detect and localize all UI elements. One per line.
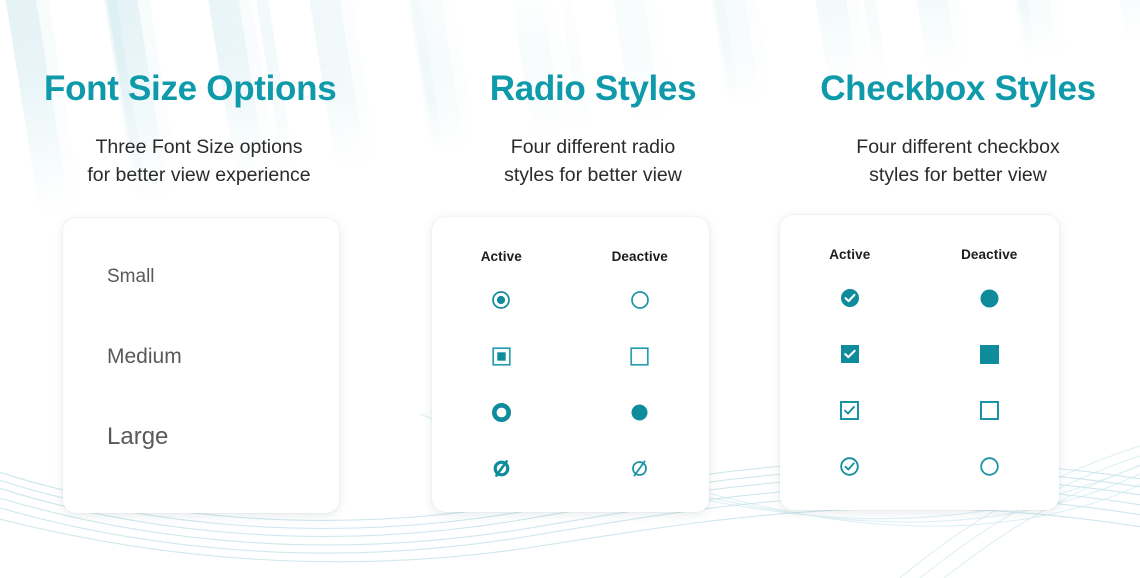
page-title-radio-styles: Radio Styles	[418, 0, 768, 110]
column-font-size: Font Size Options Three Font Size option…	[0, 0, 400, 513]
checkbox-cell-active-2[interactable]	[780, 326, 920, 382]
checkbox-cell-active-3[interactable]	[780, 382, 920, 438]
radio-cell-deactive-4[interactable]	[571, 440, 710, 496]
radio-cell-deactive-2[interactable]	[571, 328, 710, 384]
font-size-option-small[interactable]: Small	[107, 248, 339, 288]
radio-circle-dot-icon	[491, 290, 511, 310]
checkbox-cell-deactive-3[interactable]	[920, 382, 1060, 438]
radio-square-outline-icon	[630, 347, 649, 366]
feature-columns: Font Size Options Three Font Size option…	[0, 0, 1140, 513]
checkbox-circle-check-filled-icon	[841, 289, 859, 307]
card-checkbox-styles: Active Deactive	[780, 215, 1059, 510]
checkbox-cell-active-4[interactable]	[780, 438, 920, 494]
radio-cell-active-2[interactable]	[432, 328, 571, 384]
radio-circle-filled-icon	[630, 403, 649, 422]
column-checkbox-styles: Checkbox Styles Four different checkbox …	[768, 0, 1140, 513]
card-radio-styles: Active Deactive	[432, 217, 709, 512]
font-size-option-medium[interactable]: Medium	[107, 288, 339, 369]
checkbox-circle-outline-icon	[980, 457, 999, 476]
checkbox-circle-filled-icon	[980, 289, 999, 308]
checkbox-cell-deactive-2[interactable]	[920, 326, 1060, 382]
radio-cell-active-3[interactable]	[432, 384, 571, 440]
radio-donut-filled-icon	[492, 403, 511, 422]
font-size-option-large[interactable]: Large	[107, 369, 339, 451]
radio-slashed-circle-icon	[629, 458, 650, 479]
radio-column-header-active: Active	[432, 249, 571, 272]
radio-circle-outline-icon	[630, 290, 650, 310]
page-title-checkbox-styles: Checkbox Styles	[776, 0, 1140, 110]
checkbox-cell-deactive-4[interactable]	[920, 438, 1060, 494]
radio-cell-deactive-1[interactable]	[571, 272, 710, 328]
radio-style-matrix: Active Deactive	[432, 217, 709, 496]
radio-square-dot-icon	[492, 347, 511, 366]
subtitle-font-size: Three Font Size options for better view …	[44, 110, 400, 189]
column-radio-styles: Radio Styles Four different radio styles…	[400, 0, 768, 513]
subtitle-checkbox-styles: Four different checkbox styles for bette…	[776, 110, 1140, 189]
checkbox-circle-check-outline-icon	[840, 457, 859, 476]
radio-slashed-donut-icon	[491, 458, 512, 479]
checkbox-cell-deactive-1[interactable]	[920, 270, 1060, 326]
checkbox-square-filled-icon	[980, 345, 999, 364]
page-title-font-size: Font Size Options	[44, 0, 400, 110]
checkbox-square-check-filled-icon	[841, 345, 859, 363]
checkbox-column-header-deactive: Deactive	[920, 247, 1060, 270]
checkbox-square-check-outline-icon	[840, 401, 859, 420]
radio-cell-active-1[interactable]	[432, 272, 571, 328]
checkbox-cell-active-1[interactable]	[780, 270, 920, 326]
radio-cell-deactive-3[interactable]	[571, 384, 710, 440]
subtitle-radio-styles: Four different radio styles for better v…	[418, 110, 768, 189]
checkbox-column-header-active: Active	[780, 247, 920, 270]
radio-cell-active-4[interactable]	[432, 440, 571, 496]
radio-column-header-deactive: Deactive	[571, 249, 710, 272]
checkbox-style-matrix: Active Deactive	[780, 215, 1059, 494]
card-font-size-options: Small Medium Large	[63, 218, 339, 513]
checkbox-square-outline-icon	[980, 401, 999, 420]
